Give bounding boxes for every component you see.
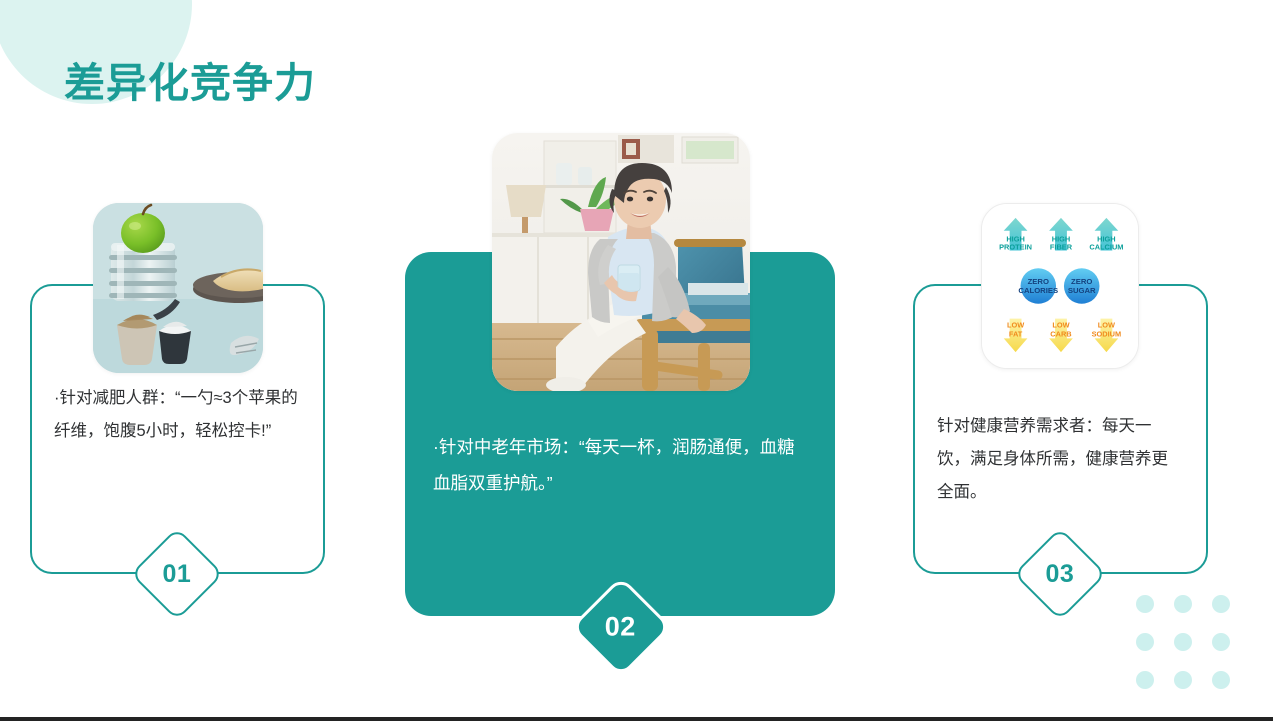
card-02-text: ·针对中老年市场：“每天一杯，润肠通便，血糖血脂双重护航。” xyxy=(405,430,835,502)
dot xyxy=(1174,595,1192,613)
svg-text:PROTEIN: PROTEIN xyxy=(999,242,1032,251)
dot xyxy=(1212,595,1230,613)
dot xyxy=(1136,633,1154,651)
svg-text:ZERO: ZERO xyxy=(1071,277,1092,286)
card-03-number: 03 xyxy=(1046,560,1075,589)
svg-text:CALORIES: CALORIES xyxy=(1018,286,1058,295)
svg-text:SODIUM: SODIUM xyxy=(1092,329,1122,338)
dot xyxy=(1212,671,1230,689)
apple-protein-scoops-photo xyxy=(93,203,263,373)
footer-bar xyxy=(0,717,1273,721)
svg-text:LOW: LOW xyxy=(1007,320,1024,329)
senior-woman-drinking-photo xyxy=(492,133,750,391)
card-02-number: 02 xyxy=(605,611,636,642)
dot xyxy=(1212,633,1230,651)
card-01-text: ·针对减肥人群：“一勺≈3个苹果的纤维，饱腹5小时，轻松控卡!” xyxy=(32,382,323,448)
svg-text:LOW: LOW xyxy=(1052,320,1069,329)
nutrition-claims-badges-graphic: HIGH PROTEIN HIGH FIBER HIGH CALCIUM ZER… xyxy=(981,203,1139,369)
dot xyxy=(1136,671,1154,689)
dot xyxy=(1174,671,1192,689)
dot xyxy=(1174,633,1192,651)
svg-text:LOW: LOW xyxy=(1098,320,1115,329)
svg-text:CARB: CARB xyxy=(1050,329,1071,338)
page-title: 差异化竞争力 xyxy=(64,60,316,107)
dot xyxy=(1136,595,1154,613)
card-01-number: 01 xyxy=(163,560,192,589)
slide-canvas: 差异化竞争力 ·针对减肥人群：“一勺≈3个苹果的纤维，饱腹5小时，轻松控卡!” xyxy=(0,0,1273,721)
card-03-text: 针对健康营养需求者：每天一饮，满足身体所需，健康营养更全面。 xyxy=(915,410,1206,509)
svg-text:FIBER: FIBER xyxy=(1050,242,1073,251)
svg-text:ZERO: ZERO xyxy=(1028,277,1049,286)
svg-text:SUGAR: SUGAR xyxy=(1068,286,1096,295)
svg-text:FAT: FAT xyxy=(1009,329,1023,338)
svg-text:CALCIUM: CALCIUM xyxy=(1089,242,1123,251)
dot-grid-decoration xyxy=(1136,595,1250,709)
